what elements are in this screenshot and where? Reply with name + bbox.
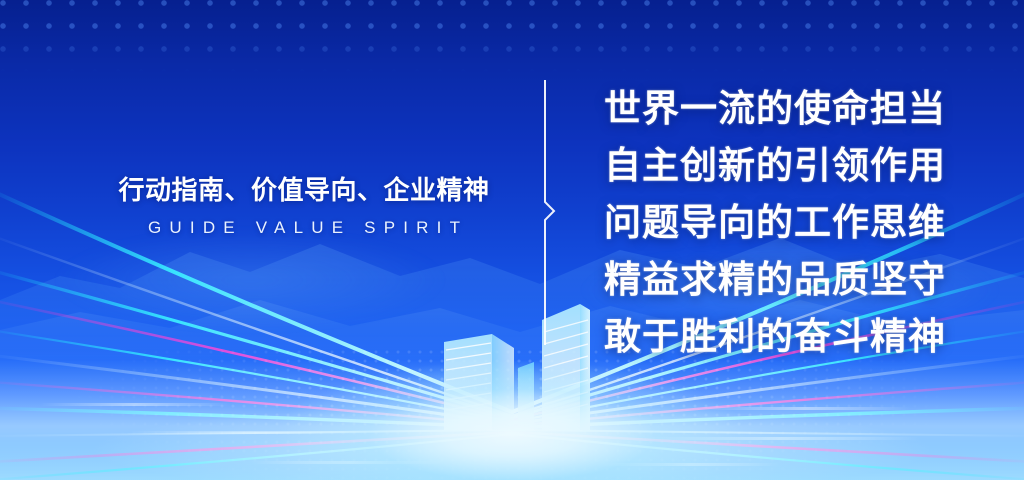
slogan-line-5: 敢于胜利的奋斗精神 [604, 308, 964, 365]
slogan-line-2: 自主创新的引领作用 [604, 137, 964, 194]
left-title: 行动指南、价值导向、企业精神 [118, 176, 490, 206]
corporate-culture-banner: 行动指南、价值导向、企业精神 GUIDE VALUE SPIRIT 世界一流的使… [0, 0, 1024, 480]
dot-grid-pattern [0, 0, 1024, 72]
left-subtitle: GUIDE VALUE SPIRIT [118, 218, 490, 238]
divider-with-chevron [530, 80, 564, 345]
left-text-block: 行动指南、价值导向、企业精神 GUIDE VALUE SPIRIT [118, 176, 490, 238]
slogan-line-1: 世界一流的使命担当 [604, 80, 964, 137]
slogan-line-3: 问题导向的工作思维 [604, 194, 964, 251]
slogan-line-4: 精益求精的品质坚守 [604, 251, 964, 308]
slogan-list: 世界一流的使命担当 自主创新的引领作用 问题导向的工作思维 精益求精的品质坚守 … [604, 80, 964, 365]
